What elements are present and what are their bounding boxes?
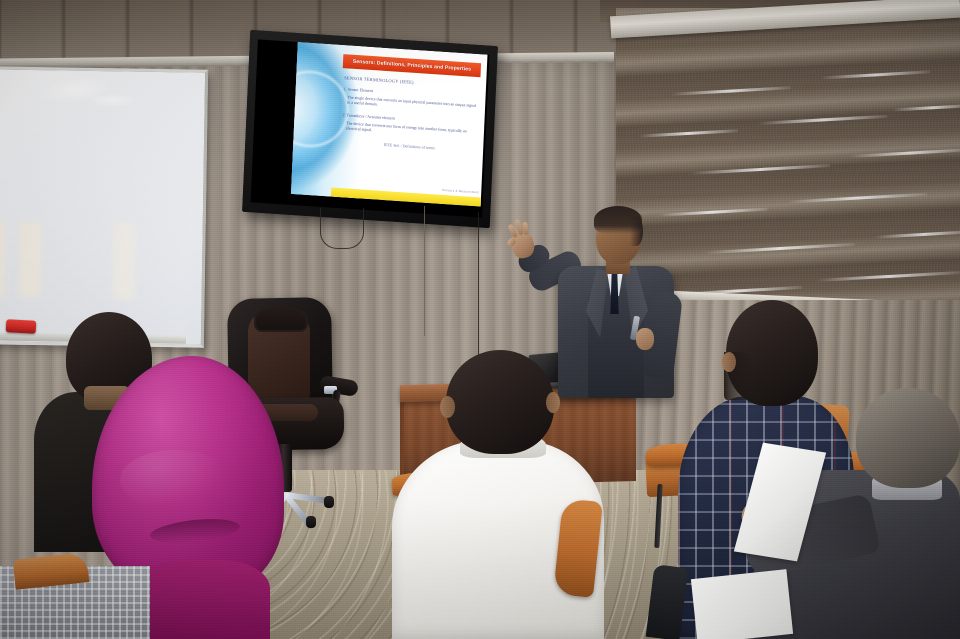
paper-handout-secondary	[691, 569, 793, 639]
presenter-hair-side	[630, 216, 643, 246]
whiteboard	[0, 66, 208, 347]
attendee-white-jacket-ear	[440, 396, 455, 418]
slide-body: SENSOR TERMINOLOGY (IEEE) 1. Sensor Elem…	[340, 75, 480, 180]
tv-screen: Sensors: Definitions, Principles and Pro…	[251, 39, 490, 217]
slide-item-1-number: 1.	[344, 87, 347, 92]
slide-item-1-title: Sensor Element	[348, 87, 373, 94]
attendee-plaid-ear	[722, 352, 736, 372]
tv-cable-left	[320, 208, 364, 249]
presenter-hand-holding-pointer	[636, 328, 654, 350]
attendee-hijab-shoulder-drape	[130, 560, 270, 639]
whiteboard-window-reflection	[0, 221, 183, 300]
slide-logo-text: Sensors & Measurement	[442, 188, 479, 194]
attendee-white-jacket-ear-right	[546, 392, 560, 413]
photo-scene: Sensors: Definitions, Principles and Pro…	[0, 0, 960, 639]
attendee-white-jacket-head	[446, 350, 554, 454]
attendee-hijab-fold-highlight	[120, 450, 230, 510]
presentation-slide: Sensors: Definitions, Principles and Pro…	[291, 42, 488, 206]
slide-footnote: IEEE Std. / Definitions of terms	[341, 139, 477, 154]
slide-item-2-number: 2.	[342, 112, 345, 117]
slide-title-text: Sensors: Definitions, Principles and Pro…	[353, 59, 472, 73]
whiteboard-glare-secondary	[87, 93, 137, 108]
wall-mounted-tv: Sensors: Definitions, Principles and Pro…	[242, 30, 498, 228]
whiteboard-eraser-icon	[6, 319, 37, 334]
office-chair-headrest-stitch	[254, 306, 308, 332]
attendee-papers-head	[856, 388, 960, 488]
